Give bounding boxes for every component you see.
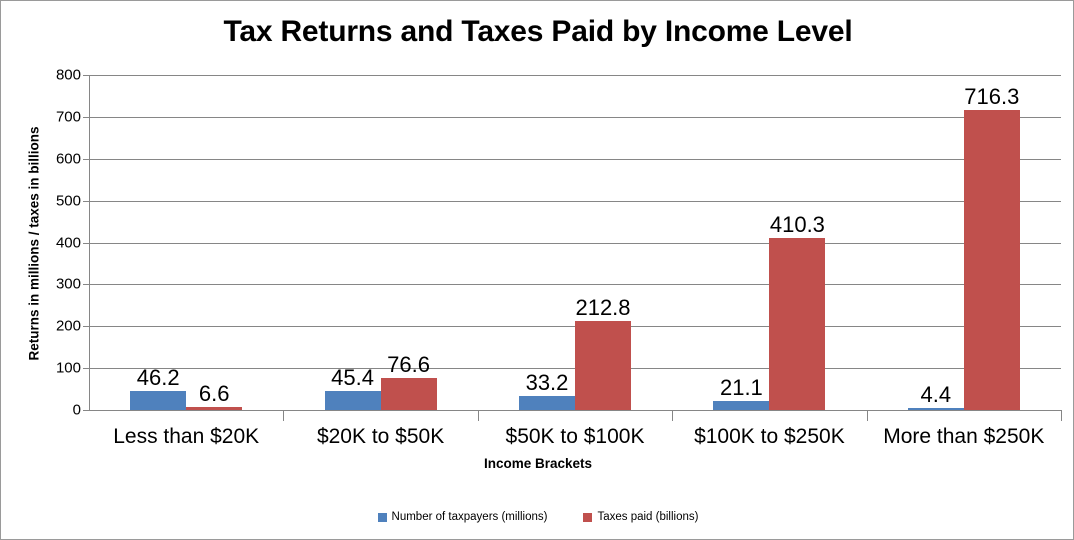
legend-item[interactable]: Number of taxpayers (millions) bbox=[378, 511, 548, 523]
legend-swatch-icon bbox=[378, 513, 387, 522]
data-label: 6.6 bbox=[199, 381, 230, 407]
gridline bbox=[89, 159, 1061, 160]
data-label: 45.4 bbox=[331, 365, 374, 391]
bar[interactable] bbox=[575, 321, 631, 410]
y-tick-label: 700 bbox=[1, 108, 81, 125]
bar[interactable] bbox=[381, 378, 437, 410]
bar[interactable] bbox=[769, 238, 825, 410]
chart-container: Tax Returns and Taxes Paid by Income Lev… bbox=[0, 0, 1074, 540]
chart-title: Tax Returns and Taxes Paid by Income Lev… bbox=[1, 15, 1074, 49]
legend-label: Number of taxpayers (millions) bbox=[392, 511, 548, 523]
category-label: Less than $20K bbox=[113, 425, 259, 449]
category-tick bbox=[867, 410, 868, 421]
bar[interactable] bbox=[325, 391, 381, 410]
y-tick-label: 200 bbox=[1, 318, 81, 335]
legend-label: Taxes paid (billions) bbox=[597, 511, 698, 523]
data-label: 76.6 bbox=[387, 352, 430, 378]
category-label: More than $250K bbox=[883, 425, 1044, 449]
gridline bbox=[89, 75, 1061, 76]
y-tick-label: 600 bbox=[1, 150, 81, 167]
plot-right-edge-tick bbox=[1061, 410, 1062, 421]
data-label: 33.2 bbox=[526, 370, 569, 396]
legend-swatch-icon bbox=[583, 513, 592, 522]
category-label: $20K to $50K bbox=[317, 425, 444, 449]
gridline bbox=[89, 410, 1061, 411]
category-tick bbox=[283, 410, 284, 421]
data-label: 21.1 bbox=[720, 375, 763, 401]
gridline bbox=[89, 117, 1061, 118]
y-tick-label: 400 bbox=[1, 234, 81, 251]
bar[interactable] bbox=[713, 401, 769, 410]
category-tick bbox=[478, 410, 479, 421]
y-tick-label: 300 bbox=[1, 276, 81, 293]
bar[interactable] bbox=[519, 396, 575, 410]
y-tick-label: 0 bbox=[1, 402, 81, 419]
data-label: 212.8 bbox=[575, 295, 630, 321]
data-label: 46.2 bbox=[137, 365, 180, 391]
bar[interactable] bbox=[130, 391, 186, 410]
bar[interactable] bbox=[908, 408, 964, 410]
y-tick-label: 500 bbox=[1, 192, 81, 209]
data-label: 716.3 bbox=[964, 84, 1019, 110]
bar[interactable] bbox=[186, 407, 242, 410]
gridline bbox=[89, 201, 1061, 202]
category-tick bbox=[672, 410, 673, 421]
plot-area bbox=[89, 75, 1061, 410]
data-label: 4.4 bbox=[921, 382, 952, 408]
data-label: 410.3 bbox=[770, 212, 825, 238]
gridline bbox=[89, 243, 1061, 244]
bar[interactable] bbox=[964, 110, 1020, 410]
y-tick-label: 100 bbox=[1, 360, 81, 377]
x-axis-title: Income Brackets bbox=[1, 456, 1074, 471]
y-tick-label: 800 bbox=[1, 67, 81, 84]
legend-item[interactable]: Taxes paid (billions) bbox=[583, 511, 698, 523]
legend: Number of taxpayers (millions)Taxes paid… bbox=[1, 511, 1074, 523]
category-label: $50K to $100K bbox=[506, 425, 645, 449]
category-label: $100K to $250K bbox=[694, 425, 845, 449]
gridline bbox=[89, 284, 1061, 285]
